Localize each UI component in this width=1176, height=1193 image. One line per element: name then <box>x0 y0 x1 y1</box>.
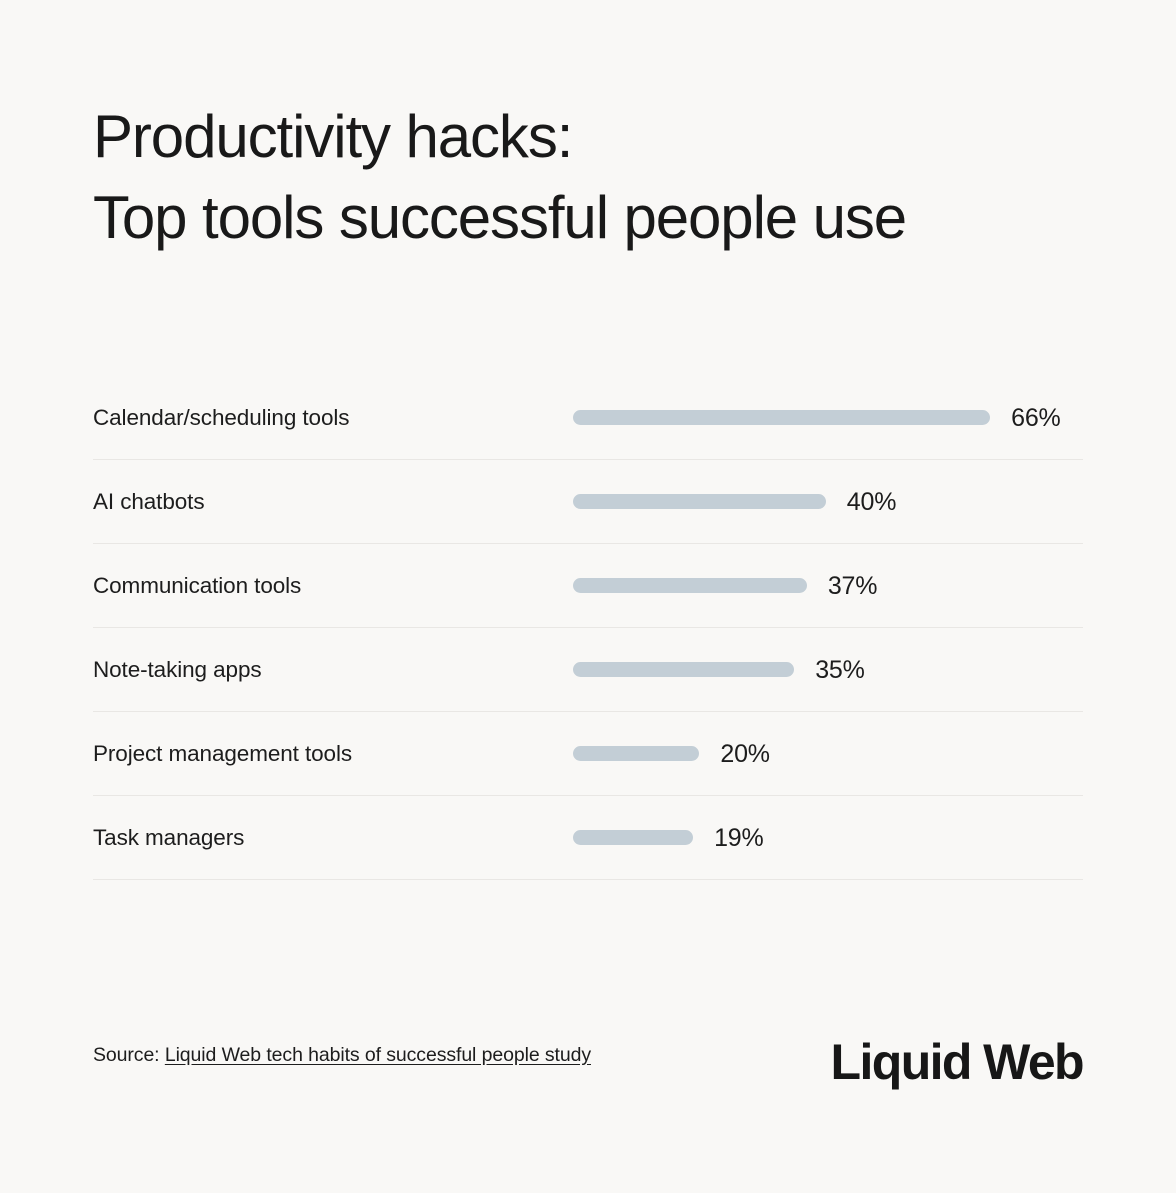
bar-area: 66% <box>573 403 1061 433</box>
bar-value: 20% <box>720 740 769 768</box>
bar-label: Project management tools <box>93 740 352 768</box>
bar-track <box>573 494 826 509</box>
bar-label: Calendar/scheduling tools <box>93 404 349 432</box>
page-title: Productivity hacks: Top tools successful… <box>93 96 1093 258</box>
bar-area: 19% <box>573 823 764 853</box>
bar-value: 66% <box>1011 404 1060 432</box>
table-row: Task managers 19% <box>93 796 1083 880</box>
bar-label: Communication tools <box>93 572 301 600</box>
footer: Source: Liquid Web tech habits of succes… <box>93 1032 1083 1092</box>
infographic-canvas: Productivity hacks: Top tools successful… <box>0 0 1176 1193</box>
bar-value: 35% <box>815 656 864 684</box>
table-row: Calendar/scheduling tools 66% <box>93 376 1083 460</box>
bar-fill <box>573 662 794 677</box>
bar-area: 20% <box>573 739 770 769</box>
bar-fill <box>573 578 807 593</box>
title-line-2: Top tools successful people use <box>93 177 1093 258</box>
source-prefix: Source: <box>93 1044 165 1066</box>
source-note: Source: Liquid Web tech habits of succes… <box>93 1042 591 1068</box>
bar-chart: Calendar/scheduling tools 66% AI chatbot… <box>93 376 1083 880</box>
bar-track <box>573 662 794 677</box>
bar-track <box>573 578 807 593</box>
source-link[interactable]: Liquid Web tech habits of successful peo… <box>165 1044 591 1066</box>
table-row: Communication tools 37% <box>93 544 1083 628</box>
table-row: AI chatbots 40% <box>93 460 1083 544</box>
title-line-1: Productivity hacks: <box>93 96 1093 177</box>
bar-fill <box>573 410 990 425</box>
bar-fill <box>573 830 693 845</box>
bar-label: Note-taking apps <box>93 656 262 684</box>
bar-label: AI chatbots <box>93 488 204 516</box>
bar-value: 19% <box>714 824 763 852</box>
liquid-web-logo: Liquid Web <box>831 1032 1083 1092</box>
bar-track <box>573 830 693 845</box>
bar-value: 37% <box>828 572 877 600</box>
bar-label: Task managers <box>93 824 244 852</box>
bar-value: 40% <box>847 488 896 516</box>
bar-track <box>573 746 699 761</box>
bar-track <box>573 410 990 425</box>
bar-area: 40% <box>573 487 896 517</box>
table-row: Note-taking apps 35% <box>93 628 1083 712</box>
bar-area: 37% <box>573 571 877 601</box>
bar-fill <box>573 746 699 761</box>
bar-fill <box>573 494 826 509</box>
table-row: Project management tools 20% <box>93 712 1083 796</box>
bar-area: 35% <box>573 655 865 685</box>
